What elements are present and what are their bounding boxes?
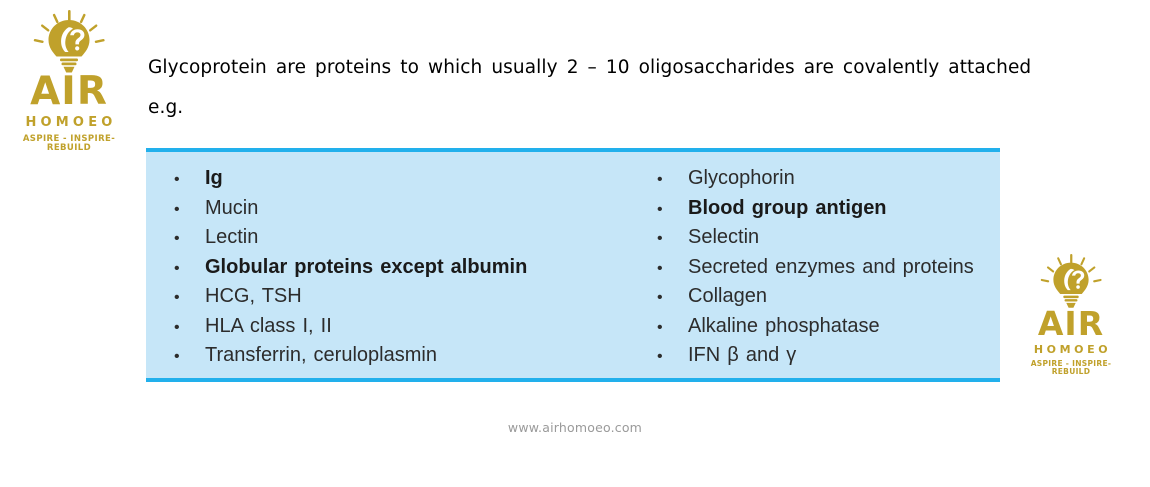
brand-tagline: ASPIRE - INSPIRE- REBUILD — [8, 135, 130, 152]
list-item-label: Collagen — [688, 285, 1000, 308]
list-item: • Lectin — [174, 226, 632, 256]
brand-name: AIR — [8, 72, 130, 111]
bullet-icon: • — [174, 172, 205, 188]
bullet-icon: • — [174, 320, 205, 336]
heading-line-1: Glycoprotein are proteins to which usual… — [148, 48, 1010, 88]
list-item-label: Alkaline phosphatase — [688, 315, 1000, 338]
brand-subtitle: HOMOEO — [8, 116, 130, 129]
bullet-icon: • — [174, 290, 205, 306]
list-item: • Selectin — [657, 226, 1000, 256]
bullet-icon: • — [174, 349, 205, 365]
bullet-icon: • — [657, 349, 688, 365]
list-item: • Glycophorin — [657, 167, 1000, 197]
bullet-icon: • — [657, 290, 688, 306]
list-item-label: Transferrin, ceruloplasmin — [205, 344, 632, 367]
bullet-column-left: • Ig • Mucin • Lectin • Globular protein… — [146, 152, 632, 378]
glycoprotein-examples-box: • Ig • Mucin • Lectin • Globular protein… — [146, 148, 1000, 382]
bullet-icon: • — [657, 261, 688, 277]
bullet-column-right: • Glycophorin • Blood group antigen • Se… — [632, 152, 1000, 378]
list-item: • HLA class I, II — [174, 315, 632, 345]
slide-heading: Glycoprotein are proteins to which usual… — [148, 48, 1010, 128]
bullet-icon: • — [657, 231, 688, 247]
list-item: • IFN β and γ — [657, 344, 1000, 374]
list-item: • Mucin — [174, 197, 632, 227]
list-item-label: HLA class I, II — [205, 315, 632, 338]
list-item-label: Selectin — [688, 226, 1000, 249]
watermark-url: www.airhomoeo.com — [0, 420, 1150, 435]
brand-subtitle: HOMOEO — [1016, 344, 1126, 355]
list-item-label: Globular proteins except albumin — [205, 256, 632, 279]
bullet-icon: • — [174, 231, 205, 247]
lightbulb-idea-icon — [1040, 254, 1102, 309]
list-item: • HCG, TSH — [174, 285, 632, 315]
list-item-label: Secreted enzymes and proteins — [688, 256, 1000, 279]
list-item-label: Blood group antigen — [688, 197, 1000, 220]
brand-logo-primary: AIR HOMOEO ASPIRE - INSPIRE- REBUILD — [8, 10, 130, 152]
bullet-icon: • — [174, 202, 205, 218]
brand-tagline: ASPIRE - INSPIRE- REBUILD — [1016, 360, 1126, 375]
list-item: • Ig — [174, 167, 632, 197]
bullet-list-left: • Ig • Mucin • Lectin • Globular protein… — [174, 167, 632, 374]
bullet-icon: • — [174, 261, 205, 277]
list-item-label: HCG, TSH — [205, 285, 632, 308]
list-item-label: Glycophorin — [688, 167, 1000, 190]
list-item: • Globular proteins except albumin — [174, 256, 632, 286]
bullet-list-right: • Glycophorin • Blood group antigen • Se… — [657, 167, 1000, 374]
list-item-label: Mucin — [205, 197, 632, 220]
bullet-icon: • — [657, 202, 688, 218]
list-item-label: IFN β and γ — [688, 344, 1000, 367]
brand-logo-secondary: AIR HOMOEO ASPIRE - INSPIRE- REBUILD — [1016, 254, 1126, 375]
list-item: • Transferrin, ceruloplasmin — [174, 344, 632, 374]
list-item: • Alkaline phosphatase — [657, 315, 1000, 345]
list-item-label: Ig — [205, 167, 632, 190]
bullet-icon: • — [657, 320, 688, 336]
bullet-icon: • — [657, 172, 688, 188]
brand-name: AIR — [1016, 307, 1126, 340]
list-item: • Blood group antigen — [657, 197, 1000, 227]
list-item-label: Lectin — [205, 226, 632, 249]
list-item: • Secreted enzymes and proteins — [657, 256, 1000, 286]
lightbulb-idea-icon — [33, 10, 105, 74]
heading-line-2: e.g. — [148, 88, 1010, 128]
list-item: • Collagen — [657, 285, 1000, 315]
